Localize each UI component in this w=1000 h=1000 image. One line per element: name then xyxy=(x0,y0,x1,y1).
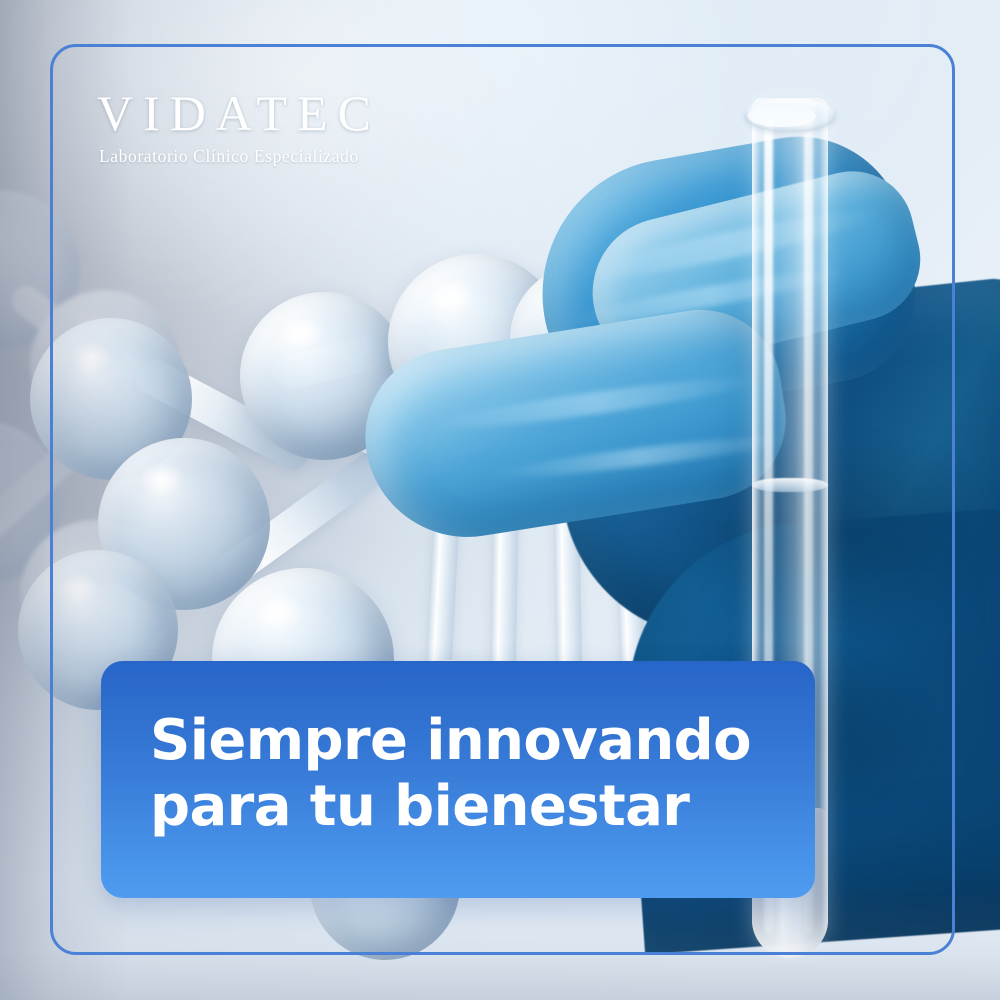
brand-name: VIDATEC xyxy=(97,88,517,138)
headline-line-2: para tu bienestar xyxy=(150,774,790,840)
headline-text: Siempre innovando para tu bienestar xyxy=(150,708,790,839)
brand-tagline: Laboratorio Clínico Especializado xyxy=(99,148,517,166)
brand-logo: VIDATEC Laboratorio Clínico Especializad… xyxy=(97,88,517,166)
promotional-poster: VIDATEC Laboratorio Clínico Especializad… xyxy=(0,0,1000,1000)
headline-line-1: Siempre innovando xyxy=(150,708,790,774)
headline-banner: Siempre innovando para tu bienestar xyxy=(101,661,815,898)
